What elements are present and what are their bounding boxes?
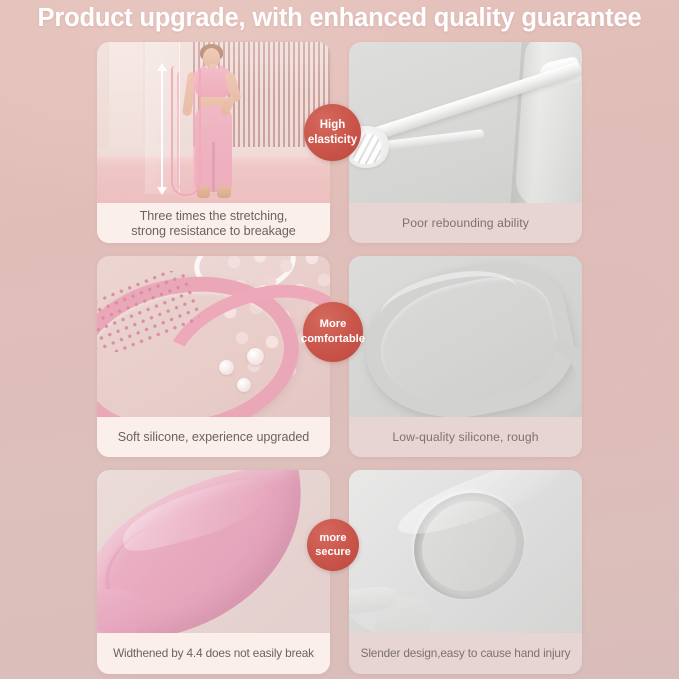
caption-good-3: Widthened by 4.4 does not easily break xyxy=(97,633,330,674)
product-photo-gray-band-stretched xyxy=(349,42,582,203)
caption-bad-1: Poor rebounding ability xyxy=(349,203,582,243)
caption-good-2: Soft silicone, experience upgraded xyxy=(97,417,330,457)
comparison-cell-bad-3: Slender design,easy to cause hand injury xyxy=(349,470,582,674)
product-photo-gray-teardrop-loop xyxy=(349,256,582,417)
product-photo-pink-silicone-loop xyxy=(97,256,330,417)
comparison-cell-bad-2: Low-quality silicone, rough xyxy=(349,256,582,457)
product-photo-gray-slender-band xyxy=(349,470,582,633)
caption-bad-3: Slender design,easy to cause hand injury xyxy=(349,633,582,674)
badge-more-comfortable: More comfortable xyxy=(303,302,363,362)
product-photo-woman-stretching-band xyxy=(97,42,330,203)
badge-more-secure: more secure xyxy=(307,519,359,571)
caption-bad-2: Low-quality silicone, rough xyxy=(349,417,582,457)
comparison-cell-good-2: Soft silicone, experience upgraded xyxy=(97,256,330,457)
stretch-arrow-icon xyxy=(161,70,163,188)
product-comparison-poster: Product upgrade, with enhanced quality g… xyxy=(0,0,679,679)
badge-high-elasticity: High elasticity xyxy=(304,104,361,161)
comparison-cell-bad-1: Poor rebounding ability xyxy=(349,42,582,243)
caption-good-1: Three times the stretching, strong resis… xyxy=(97,203,330,243)
comparison-cell-good-1: Three times the stretching, strong resis… xyxy=(97,42,330,243)
page-title: Product upgrade, with enhanced quality g… xyxy=(0,4,679,33)
product-photo-wide-pink-band xyxy=(97,470,330,633)
comparison-cell-good-3: Widthened by 4.4 does not easily break xyxy=(97,470,330,674)
